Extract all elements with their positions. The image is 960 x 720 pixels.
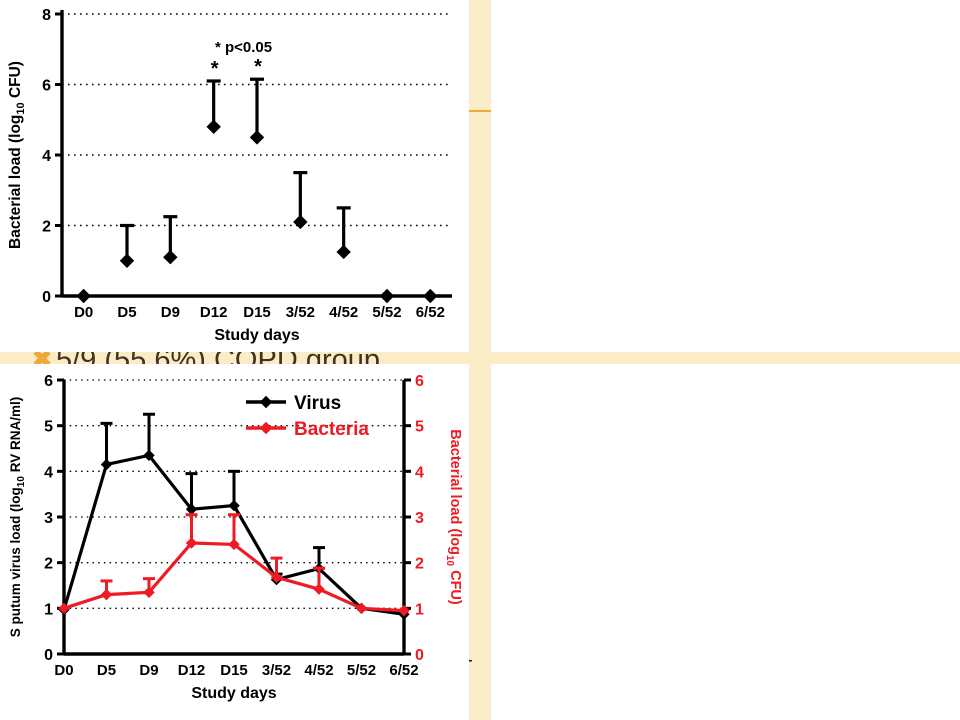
y-axis-label: Bacterial load (log10 CFU) — [7, 61, 27, 249]
x-axis-tick-label: 3/52 — [286, 304, 315, 321]
y-axis-tick-label: 6 — [42, 78, 51, 95]
legend-label: Virus — [294, 393, 341, 414]
data-point — [77, 290, 90, 303]
legend-marker — [261, 423, 272, 434]
y-axis-tick-label: 1 — [44, 601, 53, 618]
data-point-marker — [381, 290, 394, 303]
data-point-marker — [314, 584, 324, 594]
y2-axis-tick-label: 5 — [415, 419, 424, 436]
data-point: * — [207, 58, 221, 133]
data-point — [228, 471, 240, 510]
x-axis-tick-label: D9 — [161, 304, 180, 321]
x-axis-tick-label: D15 — [243, 304, 271, 321]
data-point-marker — [102, 459, 112, 469]
panel-divider — [491, 352, 960, 364]
y-axis-tick-label: 2 — [44, 556, 53, 573]
x-axis-label: Study days — [214, 327, 299, 344]
legend-marker — [261, 397, 272, 408]
data-point — [186, 515, 198, 548]
y-axis-tick-label: 0 — [44, 647, 53, 664]
y2-axis-label: Bacterial load (log10 CFU) — [444, 429, 463, 605]
data-point-marker — [121, 254, 134, 267]
significance-star: * — [254, 56, 262, 78]
y2-axis-tick-label: 6 — [415, 373, 424, 390]
x-axis-tick-label: D0 — [74, 304, 93, 321]
svg-text:Bacterial load (log10 CFU): Bacterial load (log10 CFU) — [444, 429, 463, 605]
x-axis-tick-label: 6/52 — [389, 662, 418, 679]
legend-label: Bacteria — [294, 419, 369, 440]
y-axis-tick-label: 0 — [42, 289, 51, 306]
data-point — [293, 173, 307, 229]
y-axis-tick-label: 4 — [44, 464, 53, 481]
y2-axis-tick-label: 2 — [415, 556, 424, 573]
y2-axis-tick-label: 4 — [415, 464, 424, 481]
y-axis-tick-label: 6 — [44, 373, 53, 390]
data-point — [143, 414, 155, 460]
x-axis-tick-label: D12 — [200, 304, 228, 321]
svg-text:S putum virus load (log10 RV R: S putum virus load (log10 RV RNA/ml) — [8, 397, 27, 637]
data-point-marker — [164, 251, 177, 264]
x-axis-tick-label: 6/52 — [416, 304, 445, 321]
data-point — [120, 226, 134, 268]
data-point — [228, 515, 240, 550]
chart-bacterial-load: 02468Bacterial load (log10 CFU)D0D5D9D12… — [0, 0, 469, 352]
svg-text:Bacterial load (log10 CFU): Bacterial load (log10 CFU) — [7, 61, 27, 249]
x-axis-tick-label: D12 — [178, 662, 206, 679]
y2-axis-tick-label: 1 — [415, 601, 424, 618]
data-point — [163, 217, 177, 264]
significance-annotation: * p<0.05 — [215, 39, 272, 56]
legend-item-virus: Virus — [246, 393, 341, 414]
x-axis-tick-label: D5 — [97, 662, 116, 679]
x-axis-tick-label: 5/52 — [372, 304, 401, 321]
x-axis-tick-label: 4/52 — [329, 304, 358, 321]
data-point-marker — [294, 215, 307, 228]
significance-star: * — [211, 58, 219, 80]
x-axis-tick-label: D9 — [139, 662, 158, 679]
x-axis-tick-label: D5 — [117, 304, 136, 321]
data-point-marker — [207, 120, 220, 133]
y-axis-tick-label: 3 — [44, 510, 53, 527]
y-axis-tick-label: 4 — [42, 148, 51, 165]
x-axis-tick-label: 5/52 — [347, 662, 376, 679]
data-point — [424, 290, 437, 303]
data-point-marker — [77, 290, 90, 303]
data-point-marker — [102, 590, 112, 600]
x-axis-label: Study days — [191, 685, 276, 702]
data-point-marker — [337, 245, 350, 258]
data-point-marker — [424, 290, 437, 303]
data-point — [381, 290, 394, 303]
x-axis-tick-label: 3/52 — [262, 662, 291, 679]
x-axis-tick-label: D15 — [220, 662, 248, 679]
y2-axis-tick-label: 3 — [415, 510, 424, 527]
y-axis-tick-label: 2 — [42, 219, 51, 236]
data-point-marker — [251, 131, 264, 144]
x-axis-tick-label: 4/52 — [304, 662, 333, 679]
y-axis-tick-label: 8 — [42, 7, 51, 24]
data-point — [186, 474, 198, 515]
legend-item-bacteria: Bacteria — [246, 419, 369, 440]
slide: BACTERIAL LOAD INCREASED BY RHINOVIRUS I… — [0, 0, 960, 720]
x-axis-tick-label: D0 — [54, 662, 73, 679]
chart-virus-bacteria: 01234560123456S putum virus load (log10 … — [0, 364, 469, 720]
data-point — [337, 208, 351, 259]
y-axis-tick-label: 5 — [44, 419, 53, 436]
data-point: * — [250, 56, 264, 144]
y-axis-label: S putum virus load (log10 RV RNA/ml) — [8, 397, 27, 637]
